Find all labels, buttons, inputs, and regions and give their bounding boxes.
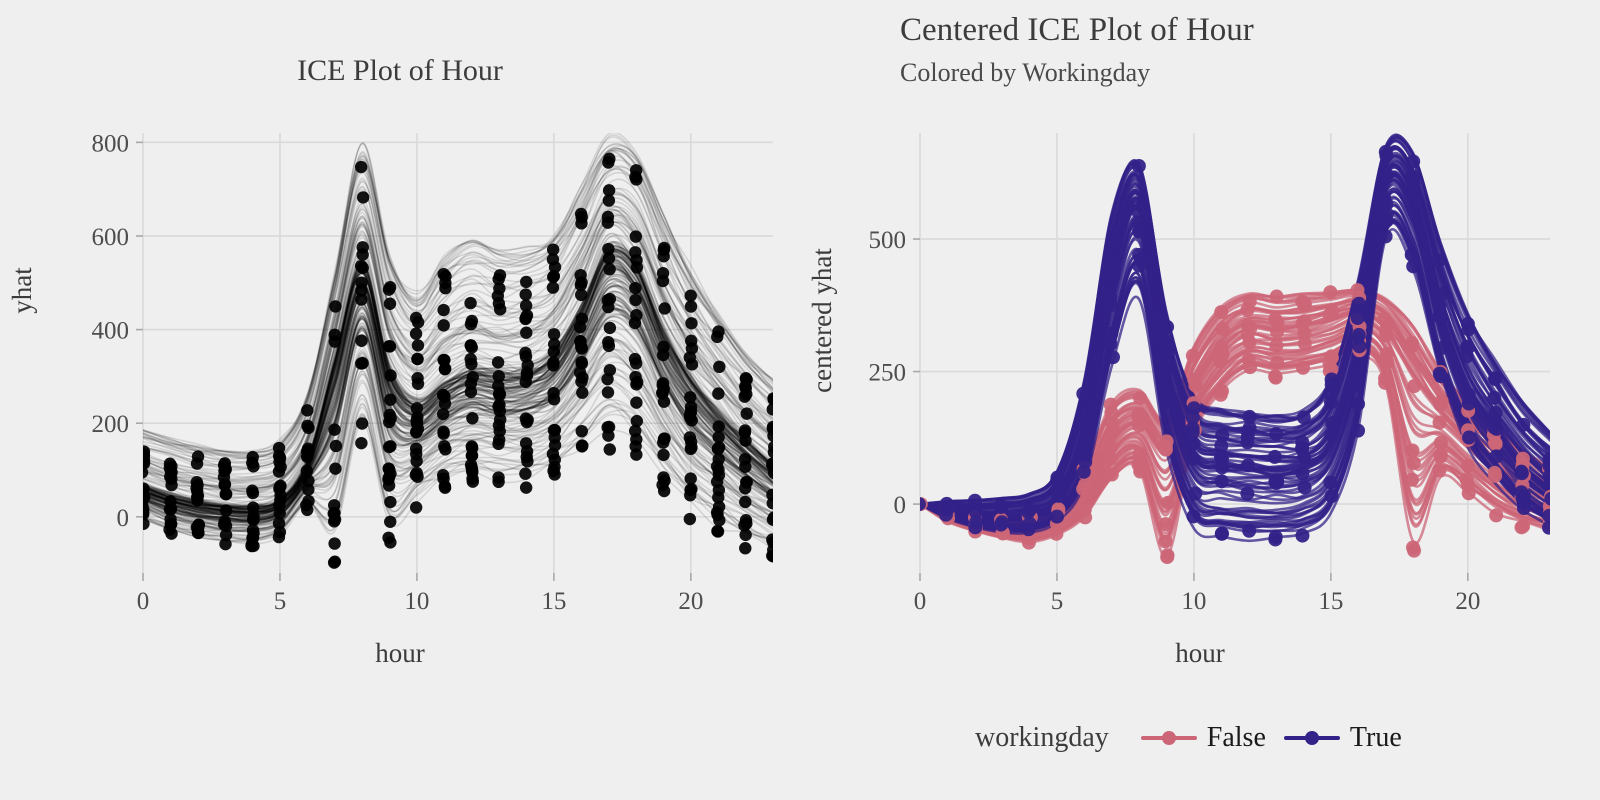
y-axis-label-right: centered yhat <box>800 0 844 720</box>
svg-text:800: 800 <box>92 130 130 157</box>
svg-text:10: 10 <box>404 588 429 615</box>
panel-ice-plot: ICE Plot of Hour 020040060080005101520 h… <box>0 0 800 800</box>
svg-text:15: 15 <box>1318 588 1343 615</box>
legend: workingday False True <box>975 722 1402 754</box>
svg-text:600: 600 <box>92 224 130 251</box>
svg-text:15: 15 <box>541 588 566 615</box>
legend-swatch-false <box>1141 727 1197 749</box>
ice-plot-svg: 020040060080005101520 <box>0 0 800 800</box>
svg-text:10: 10 <box>1181 588 1206 615</box>
legend-item-true[interactable]: True <box>1284 722 1402 754</box>
legend-item-false[interactable]: False <box>1141 722 1266 754</box>
svg-text:500: 500 <box>869 227 907 254</box>
svg-text:5: 5 <box>274 588 287 615</box>
x-axis-label-left: hour <box>0 638 800 669</box>
svg-text:5: 5 <box>1051 588 1064 615</box>
svg-text:200: 200 <box>92 411 130 438</box>
svg-text:0: 0 <box>117 505 130 532</box>
legend-label-false: False <box>1207 722 1266 754</box>
svg-text:0: 0 <box>137 588 150 615</box>
figure-canvas: ICE Plot of Hour 020040060080005101520 h… <box>0 0 1600 800</box>
x-axis-label-right: hour <box>800 638 1600 669</box>
panel-centered-ice-plot: Centered ICE Plot of Hour Colored by Wor… <box>800 0 1600 800</box>
legend-title: workingday <box>975 722 1109 754</box>
svg-text:400: 400 <box>92 318 130 345</box>
y-axis-label-left-text: yhat <box>7 267 38 314</box>
centered-ice-plot-svg: 025050005101520 <box>800 0 1600 800</box>
y-axis-label-right-text: centered yhat <box>807 248 838 393</box>
svg-text:0: 0 <box>914 588 927 615</box>
svg-text:250: 250 <box>869 360 907 387</box>
y-axis-label-left: yhat <box>0 0 44 690</box>
svg-text:0: 0 <box>894 492 907 519</box>
svg-text:20: 20 <box>678 588 703 615</box>
legend-label-true: True <box>1350 722 1402 754</box>
svg-text:20: 20 <box>1455 588 1480 615</box>
legend-swatch-true <box>1284 727 1340 749</box>
